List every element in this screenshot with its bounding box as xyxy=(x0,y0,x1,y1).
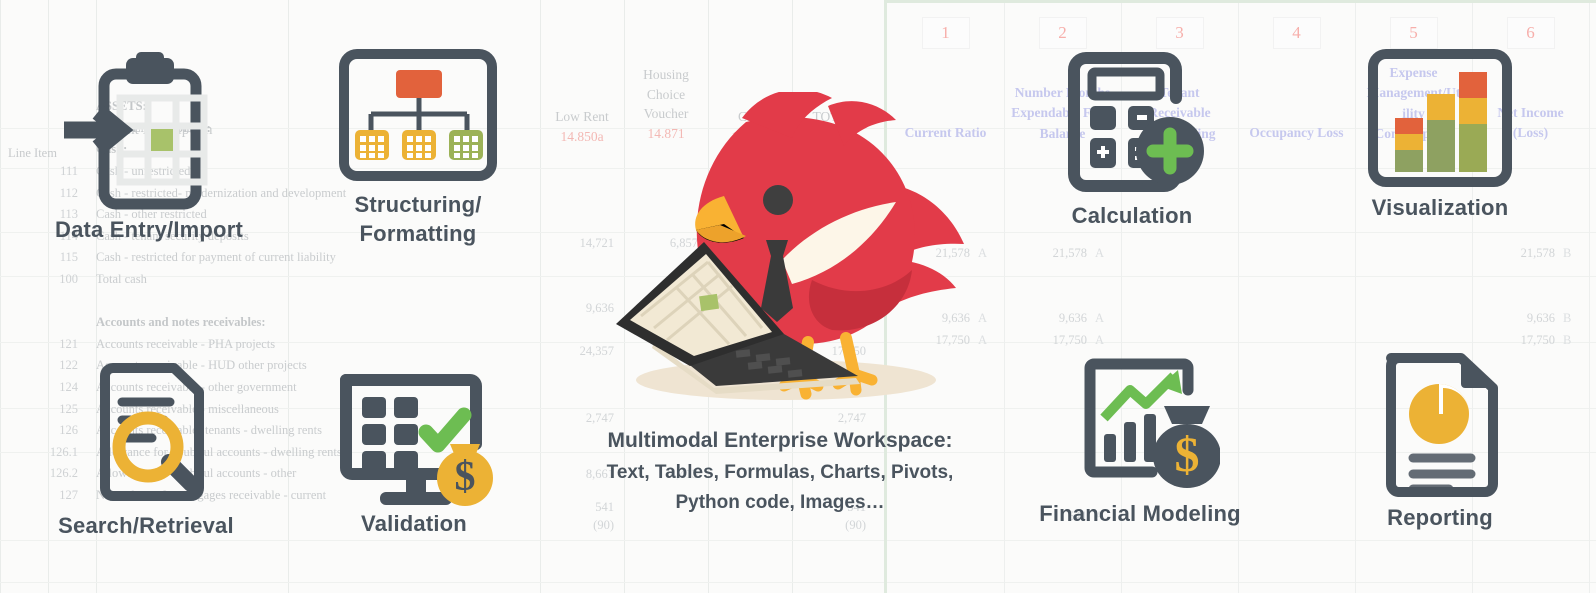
center-caption-line3: Python code, Images… xyxy=(560,488,1000,519)
svg-text:$: $ xyxy=(455,454,476,500)
sheet-metric-value: 17,750 xyxy=(1004,333,1087,348)
sheet-metric-flag: A xyxy=(1095,333,1104,348)
sheet-metric-flag: B xyxy=(1563,246,1571,261)
mascot-illustration xyxy=(596,92,968,408)
capability-calculation[interactable]: Calculation xyxy=(1032,48,1232,229)
sheet-account-description: Accounts receivable - PHA projects xyxy=(86,337,275,352)
document-magnifier-icon xyxy=(66,358,226,510)
capability-label-search-retrieval: Search/Retrieval xyxy=(30,513,262,539)
sheet-metric-flag: B xyxy=(1563,333,1571,348)
capability-label-financial-modeling: Financial Modeling xyxy=(1022,501,1258,527)
sheet-account-row xyxy=(0,290,540,312)
sheet-account-number: 121 xyxy=(0,337,86,352)
capability-visualization[interactable]: Visualization xyxy=(1348,48,1532,221)
monitor-check-money-icon: $ xyxy=(328,362,500,510)
sheet-account-description: Total cash xyxy=(86,272,147,287)
report-piechart-document-icon xyxy=(1367,344,1513,504)
sheet-account-row: 115Cash - restricted for payment of curr… xyxy=(0,247,540,269)
capability-label-structuring-line1: Structuring/ xyxy=(320,191,516,220)
sheet-program-value: (90) xyxy=(540,518,614,533)
sheet-program-value: 2,747 xyxy=(792,411,866,426)
sheet-metric-badge: 1 xyxy=(922,17,970,49)
sheet-account-number: 100 xyxy=(0,272,86,287)
center-caption-line1: Multimodal Enterprise Workspace: xyxy=(560,425,1000,458)
sheet-metric-flag: A xyxy=(978,311,987,326)
sheet-metric-badge: 3 xyxy=(1156,17,1204,49)
sheet-metric-flag: A xyxy=(1095,246,1104,261)
hierarchy-tables-icon xyxy=(338,48,498,182)
capability-label-visualization: Visualization xyxy=(1348,195,1532,221)
clipboard-import-icon xyxy=(64,50,234,210)
center-caption: Multimodal Enterprise Workspace: Text, T… xyxy=(560,425,1000,519)
sheet-metric-flag: A xyxy=(978,246,987,261)
sheet-account-description: Cash - restricted for payment of current… xyxy=(86,250,336,265)
capability-label-calculation: Calculation xyxy=(1032,203,1232,229)
calculator-plus-icon xyxy=(1052,48,1212,196)
sheet-metric-badge: 6 xyxy=(1507,17,1555,49)
capability-financial-modeling[interactable]: $ Financial Modeling xyxy=(1022,352,1258,527)
sheet-account-row: Accounts and notes receivables: xyxy=(0,312,540,334)
svg-text:$: $ xyxy=(1175,426,1200,482)
capability-label-reporting: Reporting xyxy=(1348,505,1532,531)
capability-search-retrieval[interactable]: Search/Retrieval xyxy=(30,358,262,539)
capability-label-data-entry-import: Data Entry/Import xyxy=(34,217,264,243)
sheet-metric-flag: A xyxy=(1095,311,1104,326)
capability-data-entry-import[interactable]: Data Entry/Import xyxy=(34,50,264,243)
sheet-account-row: 100Total cash xyxy=(0,269,540,291)
sheet-metric-badge: 2 xyxy=(1039,17,1087,49)
center-caption-line2: Text, Tables, Formulas, Charts, Pivots, xyxy=(560,458,1000,489)
capability-label-structuring-line2: Formatting xyxy=(320,220,516,249)
sheet-metric-value: 9,636 xyxy=(1004,311,1087,326)
capability-reporting[interactable]: Reporting xyxy=(1348,344,1532,531)
sheet-metric-flag: A xyxy=(978,333,987,348)
sheet-account-number: 115 xyxy=(0,250,86,265)
capability-validation[interactable]: $ Validation xyxy=(318,362,510,537)
sheet-program-value: (90) xyxy=(792,518,866,533)
stacked-bar-chart-icon xyxy=(1367,48,1513,188)
sheet-account-description: Accounts and notes receivables: xyxy=(86,315,266,330)
sheet-metric-value: 21,578 xyxy=(1004,246,1087,261)
growth-chart-moneybag-icon: $ xyxy=(1060,352,1220,496)
sheet-program-value: 2,747 xyxy=(540,411,614,426)
cardinal-bird-with-laptop-icon xyxy=(596,92,968,408)
capability-structuring-formatting[interactable]: Structuring/ Formatting xyxy=(320,48,516,248)
capabilities-overview-canvas: Line Item Account Description ASSETS:CUR… xyxy=(0,0,1596,593)
sheet-metric-badge: 4 xyxy=(1273,17,1321,49)
sheet-account-row: 121Accounts receivable - PHA projects xyxy=(0,334,540,356)
sheet-metric-header: Occupancy Loss xyxy=(1244,123,1349,143)
sheet-metric-value: 21,578 xyxy=(1472,246,1555,261)
sheet-metric-value: 9,636 xyxy=(1472,311,1555,326)
capability-label-validation: Validation xyxy=(318,511,510,537)
sheet-metric-flag: B xyxy=(1563,311,1571,326)
sheet-metric-badge: 5 xyxy=(1390,17,1438,49)
